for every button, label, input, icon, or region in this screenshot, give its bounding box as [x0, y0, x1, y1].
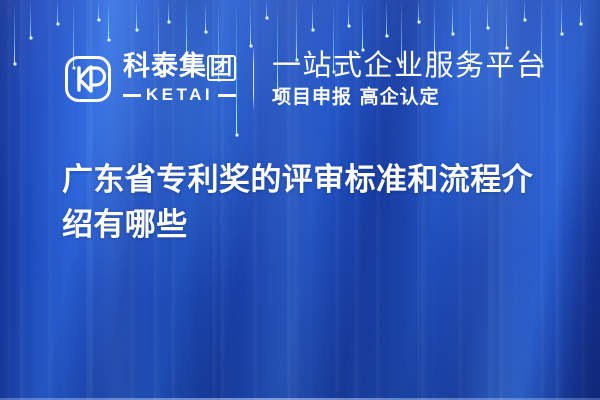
tagline-block: 一站式企业服务平台 项目申报 高企认定: [272, 49, 547, 108]
brand-name-en-row: KETAI: [123, 85, 236, 105]
brand-name-cn-main: 科泰集: [123, 51, 207, 82]
promo-banner: 科泰集团 KETAI 一站式企业服务平台 项目申报 高企认定 广东省专利奖的评审…: [0, 0, 600, 400]
ketai-monogram-icon: [62, 53, 114, 105]
tagline-main: 一站式企业服务平台: [272, 49, 547, 81]
banner-headline: 广东省专利奖的评审标准和流程介绍有哪些: [62, 158, 562, 248]
brand-name-cn-boxed: 团: [207, 55, 236, 81]
wordmark-dash-right: [218, 94, 236, 97]
tagline-sub: 项目申报 高企认定: [272, 86, 547, 109]
brand-logo[interactable]: 科泰集团 KETAI: [62, 53, 236, 105]
brand-name-cn: 科泰集团: [123, 53, 236, 82]
brand-wordmark: 科泰集团 KETAI: [123, 53, 236, 105]
banner-header: 科泰集团 KETAI 一站式企业服务平台 项目申报 高企认定: [62, 44, 547, 114]
brand-name-en: KETAI: [146, 85, 213, 105]
header-divider: [253, 49, 254, 109]
wordmark-dash-left: [123, 94, 141, 97]
